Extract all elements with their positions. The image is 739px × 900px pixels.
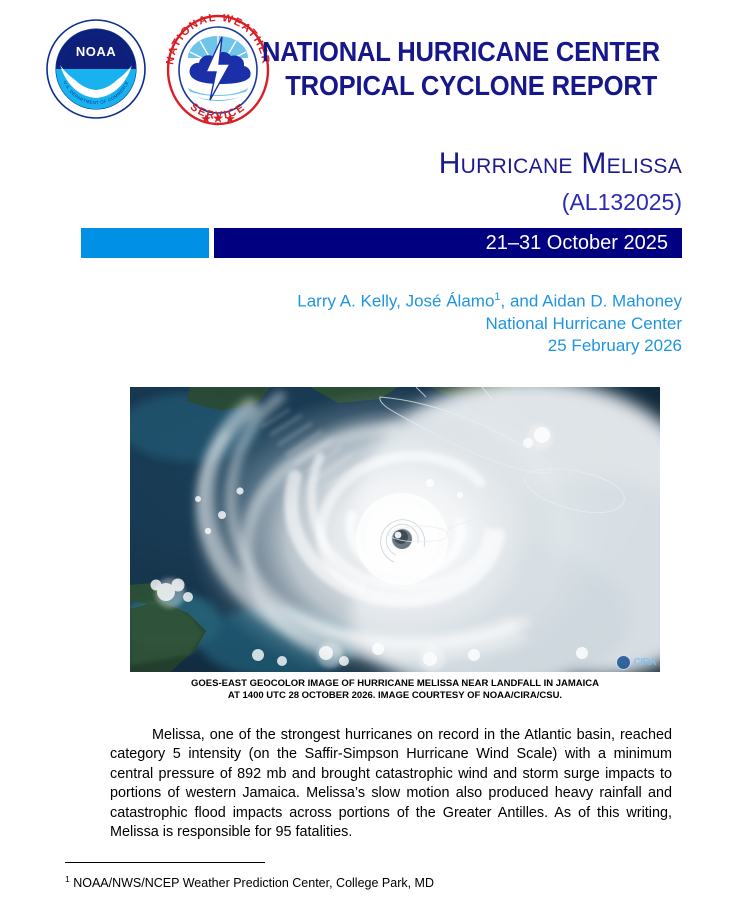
date-bar-row: 21–31 October 2025 <box>0 228 739 258</box>
summary-paragraph: Melissa, one of the strongest hurricanes… <box>110 726 672 842</box>
storm-name: Hurricane Melissa <box>0 146 739 182</box>
document-header: NOAA NATIONAL OCEANIC AND ATMOSPHERIC AD… <box>0 0 739 140</box>
cira-watermark: CIRA <box>616 655 656 670</box>
footnote-text: NOAA/NWS/NCEP Weather Prediction Center,… <box>70 876 434 890</box>
author-affiliation: National Hurricane Center <box>0 313 682 335</box>
satellite-image: CIRA <box>130 387 660 672</box>
footnote-divider <box>65 862 265 863</box>
date-range: 21–31 October 2025 <box>486 228 682 258</box>
storm-id: (AL132025) <box>0 186 739 218</box>
author-names-primary: Larry A. Kelly, José Álamo <box>297 292 494 311</box>
header-title-line-1: NATIONAL HURRICANE CENTER <box>262 35 662 69</box>
footnote: 1 NOAA/NWS/NCEP Weather Prediction Cente… <box>65 871 665 891</box>
figure-caption: GOES-EAST GEOCOLOR IMAGE OF HURRICANE ME… <box>130 678 660 702</box>
svg-text:NOAA: NOAA <box>76 44 116 59</box>
figure-caption-line-2: AT 1400 UTC 28 OCTOBER 2026. IMAGE COURT… <box>130 690 660 702</box>
cira-watermark-text: CIRA <box>634 657 656 668</box>
accent-bar-dark: 21–31 October 2025 <box>214 228 682 258</box>
report-date: 25 February 2026 <box>0 335 682 357</box>
accent-bar-light <box>81 228 209 258</box>
figure-caption-line-1: GOES-EAST GEOCOLOR IMAGE OF HURRICANE ME… <box>130 678 660 690</box>
header-title-group: NATIONAL HURRICANE CENTER TROPICAL CYCLO… <box>262 35 692 103</box>
author-names-secondary: , and Aidan D. Mahoney <box>501 292 682 311</box>
noaa-logo-icon: NOAA NATIONAL OCEANIC AND ATMOSPHERIC AD… <box>46 19 146 119</box>
satellite-image-graphic <box>130 387 660 672</box>
header-title-line-2: TROPICAL CYCLONE REPORT <box>285 69 685 103</box>
author-line-1: Larry A. Kelly, José Álamo1, and Aidan D… <box>0 286 682 313</box>
noaa-watermark-icon <box>616 655 631 670</box>
author-block: Larry A. Kelly, José Álamo1, and Aidan D… <box>0 286 739 357</box>
nws-logo-icon: NATIONAL WEATHER SERVICE <box>166 14 270 126</box>
report-title-block: Hurricane Melissa (AL132025) <box>0 146 739 218</box>
